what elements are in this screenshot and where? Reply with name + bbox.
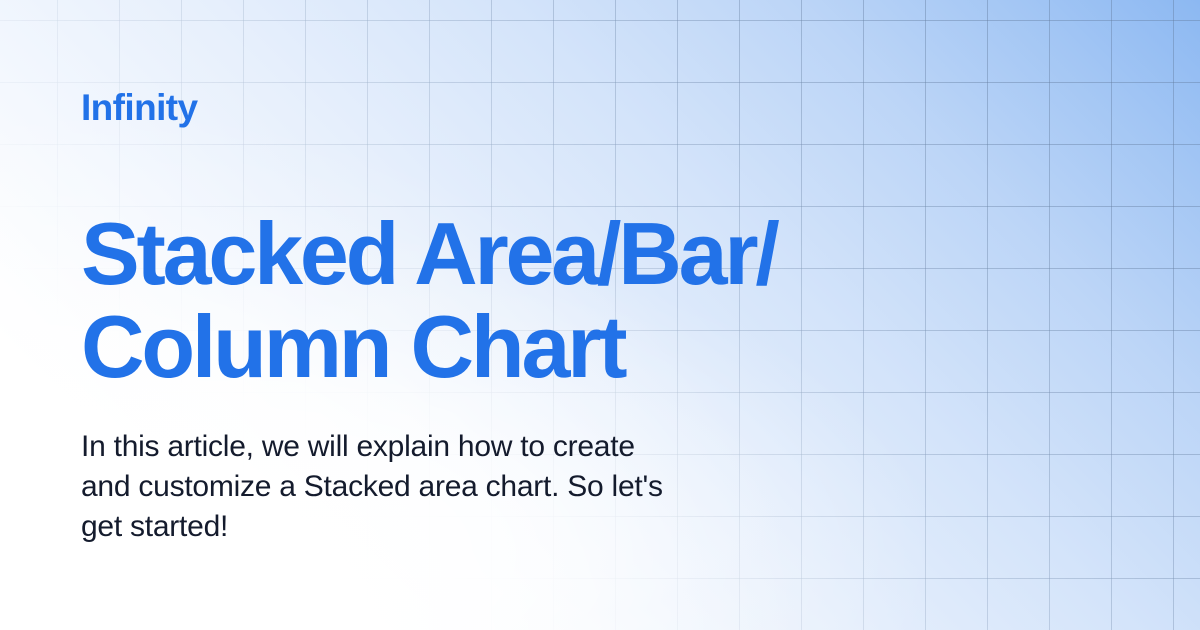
banner-content: Infinity Stacked Area/Bar/ Column Chart … bbox=[0, 0, 1200, 630]
brand-logo-text: Infinity bbox=[81, 87, 197, 129]
page-description-line-3: get started! bbox=[81, 507, 901, 547]
page-title-line-2: Column Chart bbox=[81, 300, 981, 393]
page-title: Stacked Area/Bar/ Column Chart bbox=[81, 207, 981, 393]
page-description-line-1: In this article, we will explain how to … bbox=[81, 427, 901, 467]
page-title-line-1: Stacked Area/Bar/ bbox=[81, 207, 981, 300]
social-banner: Infinity Stacked Area/Bar/ Column Chart … bbox=[0, 0, 1200, 630]
page-description-line-2: and customize a Stacked area chart. So l… bbox=[81, 467, 901, 507]
page-description: In this article, we will explain how to … bbox=[81, 427, 901, 547]
